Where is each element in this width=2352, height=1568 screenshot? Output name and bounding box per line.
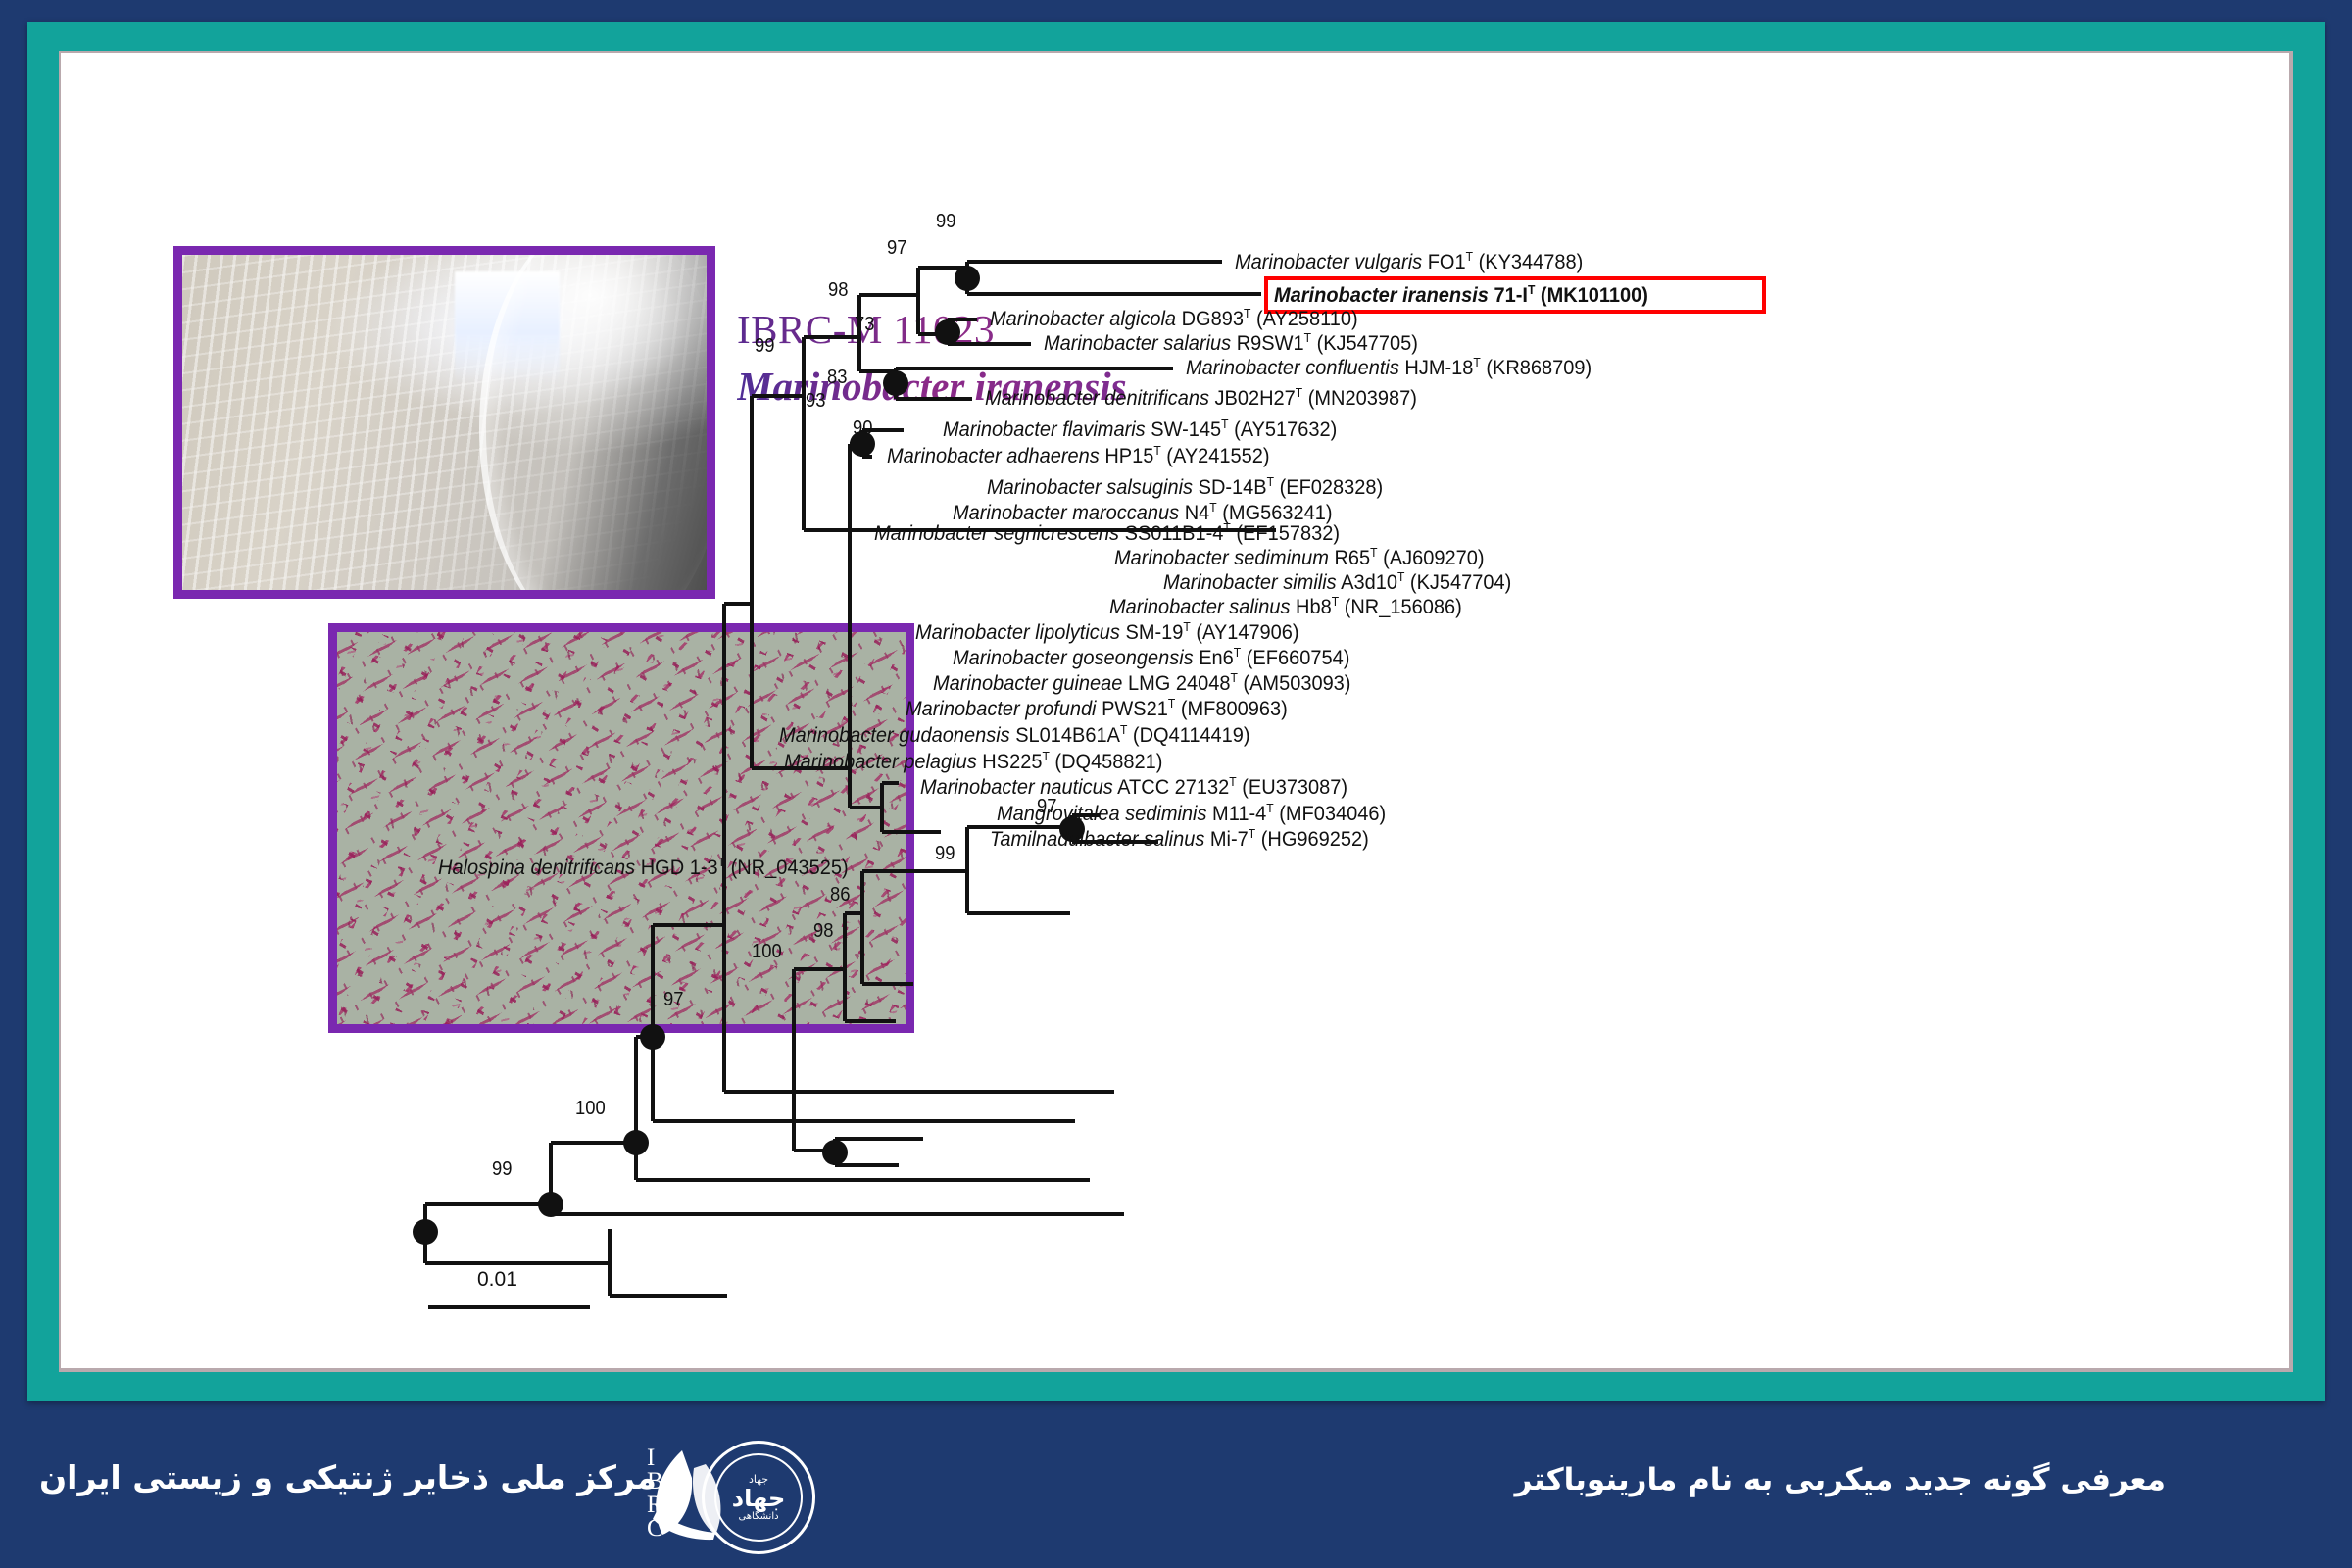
tree-tip-label: Marinobacter goseongensis En6T (EF660754…	[953, 645, 1349, 670]
jahad-seal-inner: جهاد جهاد دانشگاهی	[714, 1453, 803, 1542]
bootstrap-value: 100	[752, 941, 782, 963]
tree-tip-label: Marinobacter similis A3d10T (KJ547704)	[1163, 569, 1511, 595]
tree-tip-label: Marinobacter lipolyticus SM-19T (AY14790…	[915, 619, 1299, 645]
bootstrap-value: 98	[813, 920, 833, 943]
tree-tip-label: Marinobacter adhaerens HP15T (AY241552)	[887, 443, 1270, 468]
bootstrap-value: 73	[855, 314, 874, 336]
tree-tip-label: Halospina denitrificans HGD 1-3T (NR_043…	[438, 855, 849, 880]
bootstrap-value: 90	[853, 417, 872, 440]
tree-tip-label: Marinobacter sediminum R65T (AJ609270)	[1114, 545, 1485, 570]
tree-tip-label: Marinobacter vulgaris FO1T (KY344788)	[1235, 249, 1583, 274]
bootstrap-value: 99	[935, 843, 955, 865]
bootstrap-value: 86	[830, 884, 850, 906]
bootstrap-value: 97	[1037, 796, 1056, 818]
tree-tip-label: Marinobacter algicola DG893T (AY258110)	[990, 306, 1358, 331]
tree-tip-label: Marinobacter profundi PWS21T (MF800963)	[906, 696, 1288, 721]
bootstrap-value: 93	[806, 390, 825, 413]
tree-tip-label-highlighted: Marinobacter iranensis 71-IT (MK101100)	[1274, 282, 1648, 308]
scale-bar-label: 0.01	[477, 1268, 517, 1292]
bootstrap-value: 97	[663, 989, 683, 1011]
bootstrap-value: 98	[828, 279, 848, 302]
tree-tip-label: Marinobacter flavimaris SW-145T (AY51763…	[943, 416, 1337, 442]
jahad-seal: جهاد جهاد دانشگاهی	[702, 1441, 815, 1554]
bootstrap-value: 99	[936, 211, 955, 233]
poster-canvas: IBRC-M 11023 Marinobacter iranensis	[61, 53, 2289, 1368]
bootstrap-value: 99	[492, 1158, 512, 1181]
tree-tip-label: Marinobacter pelagius HS225T (DQ458821)	[784, 749, 1162, 774]
tree-tip-label: Marinobacter segnicrescens SS011B1-4T (E…	[874, 520, 1340, 546]
seal-main-text: جهاد	[732, 1486, 785, 1511]
tree-tip-label: Marinobacter salinus Hb8T (NR_156086)	[1109, 594, 1462, 619]
tree-tip-label: Marinobacter salsuginis SD-14BT (EF02832…	[987, 474, 1383, 500]
tree-tip-label: Marinobacter gudaonensis SL014B61AT (DQ4…	[779, 722, 1250, 748]
tree-tip-label: Marinobacter denitrificans JB02H27T (MN2…	[985, 385, 1417, 411]
tree-tip-label: Tamilnaduibacter salinus Mi-7T (HG969252…	[990, 826, 1369, 852]
poster-root: IBRC-M 11023 Marinobacter iranensis	[0, 0, 2352, 1568]
footer-title: معرفی گونه جدید میکربی به نام مارینوباکت…	[1515, 1462, 2166, 1497]
tree-tip-label: Marinobacter salarius R9SW1T (KJ547705)	[1044, 330, 1418, 356]
bootstrap-value: 99	[755, 335, 774, 358]
ibrc-letters: IBRC	[647, 1446, 664, 1541]
footer-banner: مرکز ملی ذخایر ژنتیکی و زیستی ایران IBRC…	[0, 1411, 2352, 1568]
phylogenetic-tree: Marinobacter vulgaris FO1T (KY344788) Ma…	[61, 53, 2289, 1368]
bootstrap-value: 83	[827, 367, 847, 389]
bootstrap-value: 97	[887, 237, 906, 260]
tree-tip-label: Marinobacter confluentis HJM-18T (KR8687…	[1186, 355, 1592, 380]
tree-tip-label: Marinobacter guineae LMG 24048T (AM50309…	[933, 670, 1350, 696]
center-name-label: مرکز ملی ذخایر ژنتیکی و زیستی ایران	[39, 1458, 657, 1496]
seal-bottom-text: دانشگاهی	[738, 1511, 778, 1522]
tree-tip-label: Marinobacter nauticus ATCC 27132T (EU373…	[920, 774, 1347, 800]
bootstrap-value: 100	[575, 1098, 606, 1120]
